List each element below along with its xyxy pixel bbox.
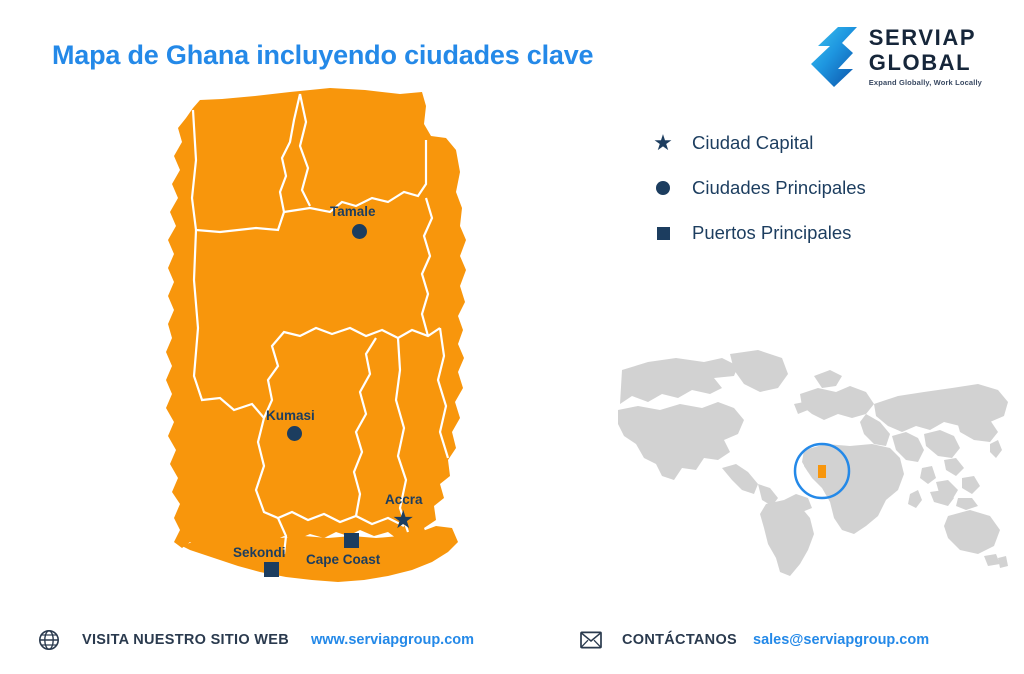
footer-website-cta: VISITA NUESTRO SITIO WEB — [82, 632, 289, 648]
legend-label-capital: Ciudad Capital — [692, 132, 813, 154]
city-label-kumasi: Kumasi — [266, 408, 315, 423]
logo-word-global: GLOBAL — [869, 52, 982, 74]
page-title: Mapa de Ghana incluyendo ciudades clave — [52, 40, 593, 71]
legend-item-main-ports: Puertos Principales — [652, 222, 866, 244]
city-marker-cape-coast[interactable] — [344, 533, 359, 548]
ghana-highlight-marker — [818, 465, 826, 478]
footer-contact-block[interactable]: CONTÁCTANOS sales@serviapgroup.com — [578, 627, 929, 653]
envelope-icon — [578, 627, 604, 653]
logo-word-serviap: SERVIAP — [869, 27, 982, 49]
infographic-page: Mapa de Ghana incluyendo ciudades clave … — [0, 0, 1024, 674]
city-label-cape-coast: Cape Coast — [306, 552, 380, 567]
city-label-tamale: Tamale — [330, 204, 376, 219]
footer-bar: VISITA NUESTRO SITIO WEB www.serviapgrou… — [0, 606, 1024, 674]
city-label-sekondi: Sekondi — [233, 545, 286, 560]
brand-logo: SERVIAP GLOBAL Expand Globally, Work Loc… — [808, 26, 982, 88]
star-icon: ★ — [652, 132, 674, 154]
ghana-map-svg — [160, 80, 490, 590]
world-landmasses — [618, 350, 1008, 576]
ghana-country-shape — [166, 88, 466, 582]
footer-website-block[interactable]: VISITA NUESTRO SITIO WEB www.serviapgrou… — [36, 627, 474, 653]
serviap-chevron-logo-icon — [808, 26, 858, 88]
city-marker-tamale[interactable] — [352, 224, 367, 239]
city-marker-sekondi[interactable] — [264, 562, 279, 577]
footer-contact-cta: CONTÁCTANOS — [622, 632, 737, 648]
legend-label-main-ports: Puertos Principales — [692, 222, 851, 244]
world-map-svg — [618, 348, 1008, 583]
legend-item-main-cities: Ciudades Principales — [652, 177, 866, 199]
ghana-map: Tamale Kumasi Accra ★ Sekondi Cape Coast — [160, 80, 490, 590]
legend-label-main-cities: Ciudades Principales — [692, 177, 866, 199]
footer-website-link[interactable]: www.serviapgroup.com — [311, 632, 474, 648]
map-legend: ★ Ciudad Capital Ciudades Principales Pu… — [652, 132, 866, 244]
city-label-accra: Accra — [385, 492, 423, 507]
logo-tagline: Expand Globally, Work Locally — [869, 79, 982, 87]
footer-contact-link[interactable]: sales@serviapgroup.com — [753, 632, 929, 648]
square-icon — [652, 227, 674, 240]
circle-icon — [652, 181, 674, 195]
world-locator-map — [618, 348, 1008, 583]
city-marker-kumasi[interactable] — [287, 426, 302, 441]
legend-item-capital: ★ Ciudad Capital — [652, 132, 866, 154]
city-marker-accra[interactable]: ★ — [392, 508, 414, 533]
globe-icon — [36, 627, 62, 653]
